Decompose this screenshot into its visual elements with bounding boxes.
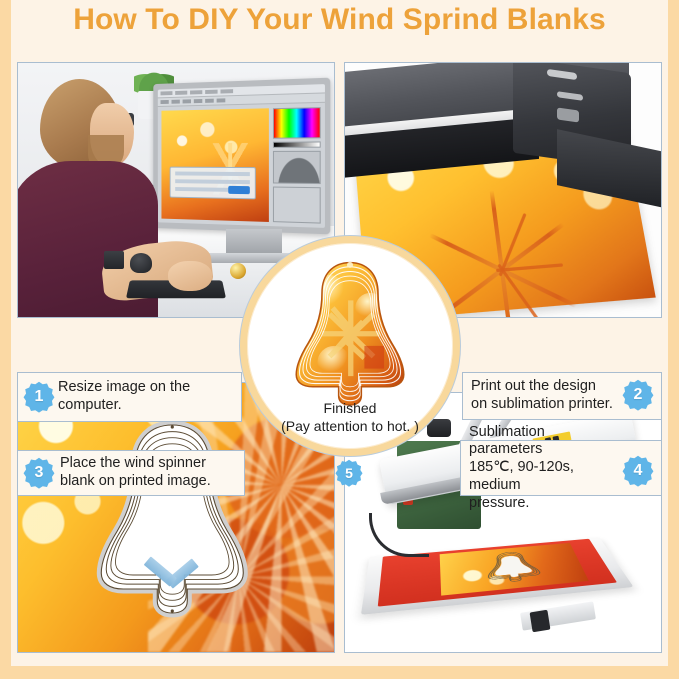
step-badge-3: 3 xyxy=(23,457,55,489)
step-badge-5-number: 5 xyxy=(345,466,353,480)
step-badge-4-number: 4 xyxy=(634,463,643,479)
person-hand xyxy=(168,261,212,291)
app-side-panels xyxy=(273,107,321,224)
step-badge-5: 5 xyxy=(335,459,363,487)
finished-caption: Finished (Pay attention to hot. ) xyxy=(247,400,453,435)
finished-bell-spinner xyxy=(275,255,425,416)
step-badge-2-number: 2 xyxy=(634,387,643,403)
step-1-text: Resize image on the computer. xyxy=(58,379,190,414)
finished-product-inner: Finished (Pay attention to hot. ) xyxy=(247,243,453,449)
finished-product-circle: Finished (Pay attention to hot. ) xyxy=(240,236,460,456)
step-badge-2: 2 xyxy=(622,379,654,411)
app-workarea xyxy=(158,103,325,228)
resize-dialog xyxy=(170,167,256,199)
step-badge-4: 4 xyxy=(622,455,654,487)
color-picker-swatch[interactable] xyxy=(273,107,321,139)
infographic-poster: How To DIY Your Wind Sprind Blanks xyxy=(0,0,679,679)
bell-blank-shape xyxy=(79,415,265,621)
monitor-screen xyxy=(158,84,325,228)
step-2-text: Print out the design on sublimation prin… xyxy=(471,378,613,413)
title-bar: How To DIY Your Wind Sprind Blanks xyxy=(11,0,668,51)
step-badge-1-number: 1 xyxy=(35,389,44,405)
step-badge-3-number: 3 xyxy=(35,465,44,481)
plug-icon xyxy=(530,610,551,633)
dialog-ok-button[interactable] xyxy=(228,185,250,193)
step-badge-1: 1 xyxy=(23,381,55,413)
bell-blank xyxy=(79,415,265,621)
monitor xyxy=(153,78,330,235)
step-3-text: Place the wind spinner blank on printed … xyxy=(60,455,211,490)
gold-ornament xyxy=(230,263,246,279)
bell-spinner-icon xyxy=(275,255,425,411)
page-title: How To DIY Your Wind Sprind Blanks xyxy=(73,3,606,37)
step-4-text: Sublimation parameters 185℃, 90-120s, me… xyxy=(469,424,617,512)
properties-panel xyxy=(273,187,321,224)
desk-bowl xyxy=(130,253,152,273)
desk-organizer xyxy=(104,251,124,269)
gradient-bar[interactable] xyxy=(273,141,321,147)
image-canvas xyxy=(161,108,268,222)
histogram-panel xyxy=(273,151,321,184)
